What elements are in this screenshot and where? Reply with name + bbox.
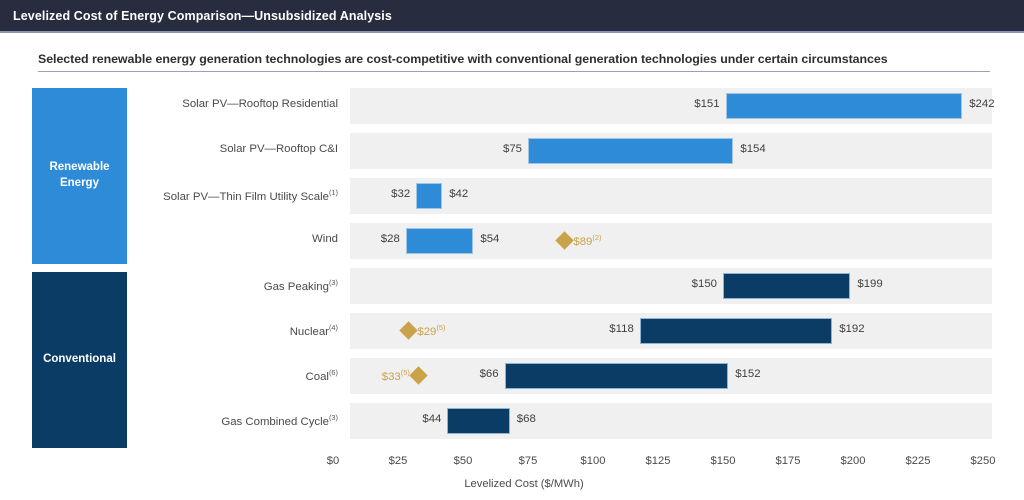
bar-high-value: $152	[735, 368, 760, 380]
row-category-label: Solar PV—Thin Film Utility Scale(1)	[123, 188, 338, 203]
bar-high-value: $199	[857, 278, 882, 290]
row-footnote-marker: (3)	[329, 278, 338, 287]
bar-high-value: $68	[517, 413, 536, 425]
range-bar[interactable]	[528, 138, 733, 164]
bar-low-value: $44	[357, 413, 441, 425]
bar-low-value: $32	[326, 188, 410, 200]
bar-high-value: $192	[839, 323, 864, 335]
range-bar[interactable]	[723, 273, 850, 299]
x-axis: $0$25$50$75$100$125$150$175$200$225$250$…	[0, 455, 1024, 475]
x-axis-tick-label: $150	[693, 455, 753, 467]
row-footnote-marker: (4)	[329, 323, 338, 332]
bar-low-value: $150	[633, 278, 717, 290]
range-bar[interactable]	[505, 363, 729, 389]
range-bar[interactable]	[406, 228, 474, 254]
chart-row-band	[350, 403, 992, 439]
x-axis-title-text: Levelized Cost ($/MWh)	[464, 478, 583, 490]
x-axis-tick-label: $175	[758, 455, 818, 467]
row-category-label: Gas Peaking(3)	[123, 278, 338, 293]
range-bar[interactable]	[640, 318, 832, 344]
x-axis-tick-label: $275	[1018, 455, 1024, 467]
x-axis-tick-label: $25	[368, 455, 428, 467]
row-footnote-marker: (3)	[329, 413, 338, 422]
x-axis-tick-label: $75	[498, 455, 558, 467]
x-axis-tick-label: $50	[433, 455, 493, 467]
row-category-label: Wind	[123, 233, 338, 245]
row-category-label: Coal(6)	[123, 368, 338, 383]
range-bar[interactable]	[726, 93, 963, 119]
bar-low-value: $151	[636, 98, 720, 110]
row-category-label: Nuclear(4)	[123, 323, 338, 338]
row-footnote-marker: (6)	[329, 368, 338, 377]
row-category-label: Solar PV—Rooftop Residential	[123, 98, 338, 110]
bar-high-value: $42	[449, 188, 468, 200]
marker-value-label: $29(5)	[417, 323, 445, 338]
chart-window: Levelized Cost of Energy Comparison—Unsu…	[0, 0, 1024, 500]
bar-low-value: $28	[316, 233, 400, 245]
bar-high-value: $242	[969, 98, 994, 110]
chart-plot-area: Solar PV—Rooftop Residential$151$242Sola…	[0, 0, 1024, 500]
x-axis-tick-label: $100	[563, 455, 623, 467]
chart-row-band	[350, 178, 992, 214]
x-axis-tick-label: $225	[888, 455, 948, 467]
marker-value-label: $89(2)	[573, 233, 601, 248]
bar-high-value: $54	[480, 233, 499, 245]
bar-low-value: $75	[438, 143, 522, 155]
marker-value-label: $33(5)	[370, 368, 410, 383]
row-category-label: Solar PV—Rooftop C&I	[123, 143, 338, 155]
bar-high-value: $154	[740, 143, 765, 155]
range-bar[interactable]	[447, 408, 509, 434]
x-axis-title: Levelized Cost ($/MWh)	[0, 478, 1024, 490]
row-category-label: Gas Combined Cycle(3)	[123, 413, 338, 428]
x-axis-tick-label: $200	[823, 455, 883, 467]
bar-low-value: $118	[550, 323, 634, 335]
range-bar[interactable]	[416, 183, 442, 209]
x-axis-tick-label: $125	[628, 455, 688, 467]
x-axis-tick-label: $0	[303, 455, 363, 467]
x-axis-tick-label: $250	[953, 455, 1013, 467]
